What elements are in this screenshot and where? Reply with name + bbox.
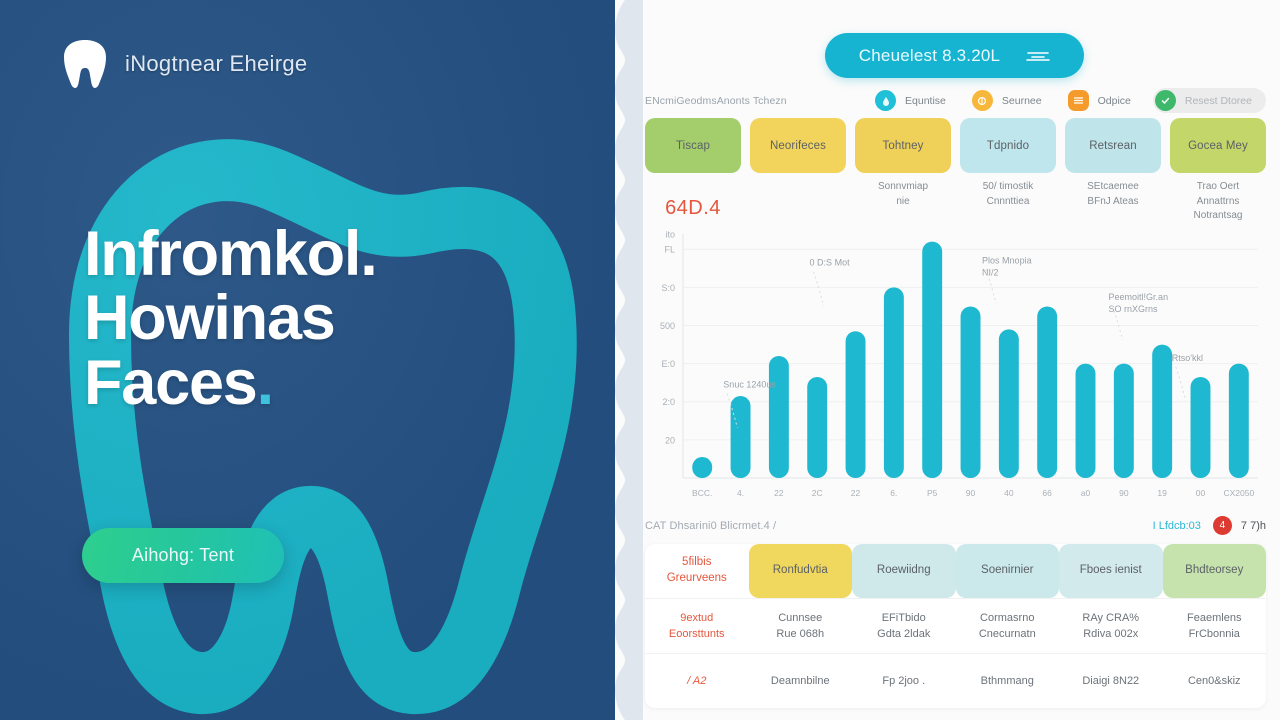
card-annotation-1 (750, 180, 846, 224)
svg-text:90: 90 (966, 488, 976, 498)
category-card-1[interactable]: Neorifeces (750, 118, 846, 173)
headline-line-2: Howinas (84, 286, 377, 350)
table-cell-1-3: Bthmmang (956, 654, 1060, 708)
category-card-2[interactable]: Tohtney (855, 118, 951, 173)
bar-chart-svg: itoFLS:0500E:02:020BCC.4.222C226.P590406… (645, 226, 1266, 506)
svg-text:ito: ito (666, 230, 676, 240)
dashboard-panel: Cheuelest 8.3.20L ENcmiGeodmsAnonts Tche… (615, 0, 1280, 720)
menu-icon (1068, 90, 1089, 111)
category-card-label-2: Tohtney (883, 140, 924, 152)
svg-text:19: 19 (1157, 488, 1167, 498)
svg-text:Peemoitl!Gr.anSO rnXGrns: Peemoitl!Gr.anSO rnXGrns (1109, 292, 1169, 314)
cta-button[interactable]: Aihohg: Tent (82, 528, 284, 583)
svg-text:4.: 4. (737, 488, 744, 498)
category-card-label-1: Neorifeces (770, 140, 826, 152)
category-card-0[interactable]: Tiscap (645, 118, 741, 173)
table-row[interactable]: / A2 Deamnbilne Fp 2joo . Bthmmang Diaig… (645, 653, 1266, 708)
headline-line-1: Infromkol. (84, 222, 377, 286)
card-annotation-4: SEtcaemee BFnJ Ateas (1065, 180, 1161, 224)
svg-text:S:0: S:0 (662, 283, 676, 293)
table-cell-0-3: Cormasrno Cnecurnatn (956, 599, 1060, 653)
status-badge[interactable]: 4 (1213, 516, 1232, 535)
svg-text:CX2050: CX2050 (1223, 488, 1254, 498)
table-cell-1-4: Diaigi 8N22 (1059, 654, 1163, 708)
card-annotation-5: Trao Oert Annattrns Notrantsag (1170, 180, 1266, 224)
svg-text:BCC.: BCC. (692, 488, 712, 498)
panel-edge-decoration (615, 0, 643, 720)
svg-text:E:0: E:0 (662, 359, 676, 369)
card-annotation-3: 50/ timostik Cnnnttiea (960, 180, 1056, 224)
table-header-cell-1[interactable]: Ronfudvtia (749, 544, 853, 598)
checklist-pill-button[interactable]: Cheuelest 8.3.20L (825, 33, 1084, 78)
legend-item-3[interactable]: Resest Dtoree (1153, 88, 1266, 113)
table-cell-0-1: Cunnsee Rue 068h (749, 599, 853, 653)
card-annotation-row: 64D.4 Sonnvmiap nie 50/ timostik Cnnntti… (645, 180, 1266, 224)
table-row[interactable]: 9extud Eoorsttunts Cunnsee Rue 068h EFiT… (645, 598, 1266, 653)
table-cell-1-0: / A2 (645, 654, 749, 708)
category-card-label-3: Tdpnido (987, 140, 1029, 152)
bar-chart: itoFLS:0500E:02:020BCC.4.222C226.P590406… (645, 226, 1266, 506)
category-card-row: Tiscap Neorifeces Tohtney Tdpnido Retsre… (645, 118, 1266, 173)
data-table: 5filbis Greurveens Ronfudvtia Roewiidng … (645, 544, 1266, 708)
brand-panel: iNogtnear Eheirge Infromkol. Howinas Fac… (0, 0, 615, 720)
legend-label-0: Equntise (905, 95, 946, 107)
table-header-cell-2[interactable]: Roewiidng (852, 544, 956, 598)
droplet-icon (875, 90, 896, 111)
table-cell-0-4: RAy CRA% Rdiva 002x (1059, 599, 1163, 653)
svg-text:500: 500 (660, 321, 675, 331)
tooth-icon (62, 38, 108, 90)
top-pill-label: Cheuelest 8.3.20L (859, 46, 1000, 66)
top-action-row: Cheuelest 8.3.20L (639, 33, 1270, 78)
table-link[interactable]: I Lfdcb:03 (1153, 520, 1201, 532)
filter-lines-icon (1026, 49, 1050, 63)
check-icon (1155, 90, 1176, 111)
table-count: 7 7)h (1241, 520, 1266, 532)
legend-label-2: Odpice (1098, 95, 1131, 107)
category-card-4[interactable]: Retsrean (1065, 118, 1161, 173)
svg-text:66: 66 (1042, 488, 1052, 498)
legend-title: ENcmiGeodmsAnonts Tchezn (645, 95, 787, 107)
svg-text:90: 90 (1119, 488, 1129, 498)
svg-text:FL: FL (665, 245, 676, 255)
table-cell-0-0: 9extud Eoorsttunts (645, 599, 749, 653)
table-header-cell-4[interactable]: Fboes ienist (1059, 544, 1163, 598)
table-toolbar: CAT Dhsarini0 Blicrmet.4 / I Lfdcb:03 4 … (645, 516, 1266, 535)
table-cell-0-2: EFiTbido Gdta 2ldak (852, 599, 956, 653)
legend-label-1: Seurnee (1002, 95, 1042, 107)
app-screen: iNogtnear Eheirge Infromkol. Howinas Fac… (0, 0, 1280, 720)
svg-text:00: 00 (1196, 488, 1206, 498)
legend-row: ENcmiGeodmsAnonts Tchezn Equntise Seurne… (645, 88, 1266, 113)
svg-text:20: 20 (665, 435, 675, 445)
table-header-cell-0[interactable]: 5filbis Greurveens (645, 544, 749, 598)
table-cell-0-5: Feaemlens FrCbonnia (1163, 599, 1267, 653)
table-cell-1-2: Fp 2joo . (852, 654, 956, 708)
category-card-label-4: Retsrean (1089, 140, 1136, 152)
headline-line-3-text: Faces (84, 348, 257, 418)
svg-text:2:0: 2:0 (663, 397, 676, 407)
svg-text:22: 22 (851, 488, 861, 498)
svg-text:40: 40 (1004, 488, 1014, 498)
table-header-row: 5filbis Greurveens Ronfudvtia Roewiidng … (645, 544, 1266, 598)
headline-dot: . (257, 348, 273, 418)
legend-item-2[interactable]: Odpice (1068, 90, 1131, 111)
svg-text:Rtso'kkl: Rtso'kkl (1172, 353, 1203, 363)
legend-item-1[interactable]: Seurnee (972, 90, 1042, 111)
category-card-label-5: Gocea Mey (1188, 140, 1248, 152)
table-title: CAT Dhsarini0 Blicrmet.4 / (645, 520, 776, 532)
svg-text:Snuc 1240us: Snuc 1240us (723, 380, 776, 390)
svg-text:P5: P5 (927, 488, 938, 498)
brand-name: iNogtnear Eheirge (125, 51, 307, 77)
headline-line-3: Faces. (84, 351, 377, 415)
legend-label-3: Resest Dtoree (1185, 95, 1252, 107)
brand-header: iNogtnear Eheirge (62, 38, 307, 90)
card-annotation-2: Sonnvmiap nie (855, 180, 951, 224)
category-card-3[interactable]: Tdpnido (960, 118, 1056, 173)
page-title: Infromkol. Howinas Faces. (84, 222, 377, 415)
svg-text:Plos MnopiaNI/2: Plos MnopiaNI/2 (982, 255, 1032, 277)
svg-text:22: 22 (774, 488, 784, 498)
table-cell-1-5: Cen0&skiz (1163, 654, 1267, 708)
category-card-label-0: Tiscap (676, 140, 710, 152)
svg-text:a0: a0 (1081, 488, 1091, 498)
table-cell-1-1: Deamnbilne (749, 654, 853, 708)
svg-text:0 D:S Mot: 0 D:S Mot (810, 258, 851, 268)
svg-text:6.: 6. (890, 488, 897, 498)
table-header-cell-3[interactable]: Soenirnier (956, 544, 1060, 598)
category-card-5[interactable]: Gocea Mey (1170, 118, 1266, 173)
svg-text:2C: 2C (812, 488, 823, 498)
legend-item-0[interactable]: Equntise (875, 90, 946, 111)
coin-icon (972, 90, 993, 111)
kpi-value: 64D.4 (645, 180, 741, 224)
table-header-cell-5[interactable]: Bhdteorsey (1163, 544, 1267, 598)
